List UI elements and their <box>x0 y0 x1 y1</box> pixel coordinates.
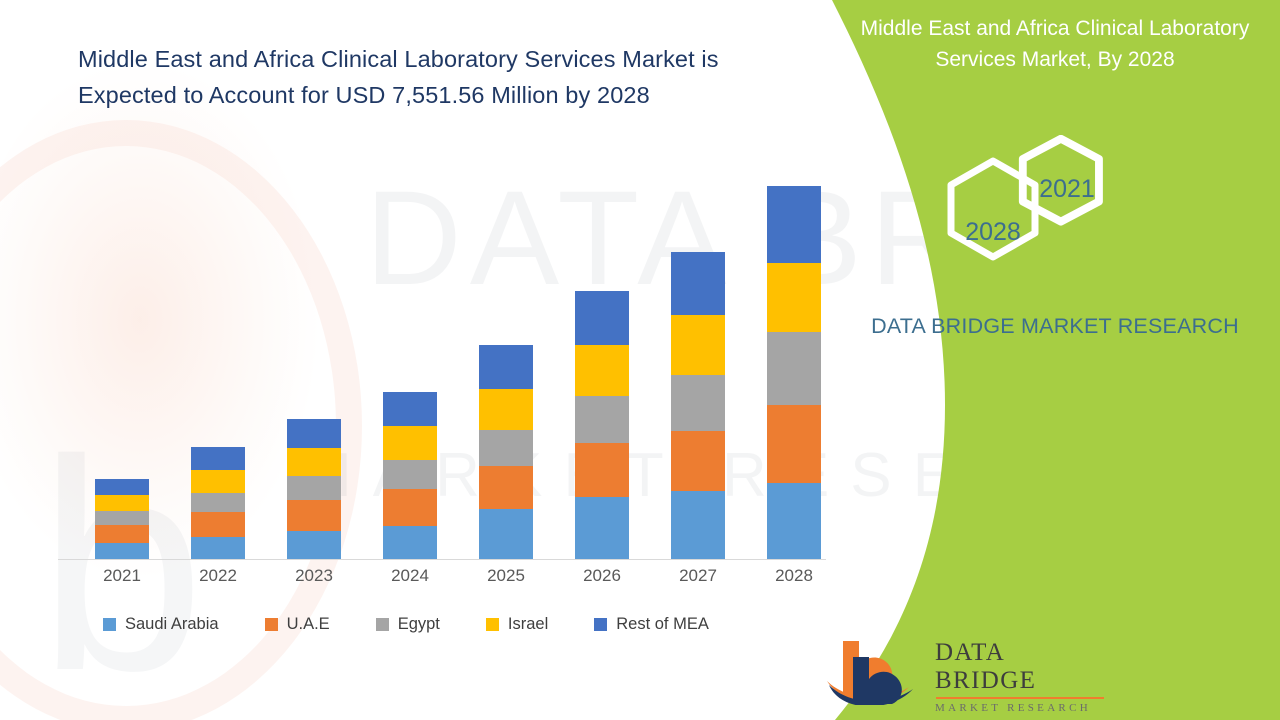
bar-segment <box>191 537 245 559</box>
bar-column <box>95 479 149 559</box>
bar-segment <box>191 470 245 493</box>
logo-divider <box>936 697 1104 699</box>
bar-segment <box>575 396 629 443</box>
logo-mark-icon <box>825 635 930 705</box>
logo-wordmark: DATA BRIDGE MARKET RESEARCH <box>935 639 1104 714</box>
bar-segment <box>191 512 245 537</box>
panel-title: Middle East and Africa Clinical Laborato… <box>830 14 1280 75</box>
bar-segment <box>671 491 725 559</box>
x-axis-label: 2021 <box>82 566 162 586</box>
bar-column <box>575 291 629 559</box>
bar-segment <box>287 531 341 559</box>
legend-item[interactable]: Egypt <box>376 615 440 634</box>
svg-text:2021: 2021 <box>1039 175 1095 203</box>
bar-segment <box>671 431 725 491</box>
hexagon-2021: 2021 <box>1023 139 1099 222</box>
legend-swatch-icon <box>103 618 116 631</box>
brand-panel: Middle East and Africa Clinical Laborato… <box>810 0 1280 720</box>
bar-segment <box>671 252 725 315</box>
legend-label: U.A.E <box>287 615 330 634</box>
x-axis-label: 2027 <box>658 566 738 586</box>
x-axis-label: 2024 <box>370 566 450 586</box>
bar-segment <box>383 460 437 489</box>
bar-column <box>671 252 725 559</box>
bar-segment <box>479 466 533 509</box>
svg-text:2028: 2028 <box>965 218 1021 246</box>
legend-label: Israel <box>508 615 548 634</box>
bar-segment <box>191 493 245 512</box>
bar-segment <box>287 500 341 531</box>
x-axis-label: 2026 <box>562 566 642 586</box>
legend-swatch-icon <box>594 618 607 631</box>
legend-swatch-icon <box>486 618 499 631</box>
bar-column <box>479 345 533 559</box>
bar-segment <box>479 509 533 559</box>
legend-item[interactable]: Saudi Arabia <box>103 615 219 634</box>
bar-segment <box>287 448 341 476</box>
legend-item[interactable]: Israel <box>486 615 548 634</box>
legend-item[interactable]: Rest of MEA <box>594 615 709 634</box>
bar-segment <box>479 430 533 466</box>
bar-segment <box>95 479 149 495</box>
logo-sub-text: MARKET RESEARCH <box>935 702 1104 714</box>
legend-swatch-icon <box>265 618 278 631</box>
bar-segment <box>383 526 437 559</box>
x-axis-label: 2023 <box>274 566 354 586</box>
infographic-canvas: DATA BRIDGE MARKET RESEARCH b Middle Eas… <box>0 0 1280 720</box>
bar-segment <box>575 443 629 497</box>
bar-segment <box>383 392 437 426</box>
bar-segment <box>95 511 149 525</box>
bar-segment <box>671 375 725 431</box>
stacked-bar-chart <box>58 160 826 560</box>
x-axis-line <box>58 559 826 560</box>
chart-plot-area <box>58 160 826 560</box>
legend-label: Saudi Arabia <box>125 615 219 634</box>
brand-name-text: DATA BRIDGE MARKET RESEARCH <box>870 310 1240 342</box>
bar-column <box>287 419 341 559</box>
x-axis-tick-labels: 20212022202320242025202620272028 <box>58 566 826 594</box>
x-axis-label: 2022 <box>178 566 258 586</box>
bar-column <box>191 447 245 559</box>
green-panel-shape <box>810 0 1280 720</box>
bar-segment <box>383 489 437 526</box>
chart-legend: Saudi ArabiaU.A.EEgyptIsraelRest of MEA <box>103 615 755 634</box>
hexagon-badges: 2028 2021 <box>810 135 1280 300</box>
legend-label: Egypt <box>398 615 440 634</box>
legend-label: Rest of MEA <box>616 615 709 634</box>
bar-segment <box>575 291 629 345</box>
logo-main-text: DATA BRIDGE <box>935 639 1104 695</box>
bar-segment <box>671 315 725 375</box>
bar-segment <box>575 497 629 559</box>
bar-segment <box>287 419 341 448</box>
page-title: Middle East and Africa Clinical Laborato… <box>78 42 778 113</box>
bar-segment <box>191 447 245 470</box>
bar-segment <box>95 543 149 559</box>
bar-segment <box>479 389 533 430</box>
bar-segment <box>95 525 149 543</box>
bar-segment <box>95 495 149 511</box>
bar-column <box>383 392 437 559</box>
bar-segment <box>575 345 629 396</box>
data-bridge-logo: DATA BRIDGE MARKET RESEARCH <box>825 635 1075 707</box>
x-axis-label: 2025 <box>466 566 546 586</box>
bar-segment <box>479 345 533 389</box>
bar-segment <box>287 476 341 500</box>
legend-item[interactable]: U.A.E <box>265 615 330 634</box>
legend-swatch-icon <box>376 618 389 631</box>
bar-segment <box>383 426 437 460</box>
